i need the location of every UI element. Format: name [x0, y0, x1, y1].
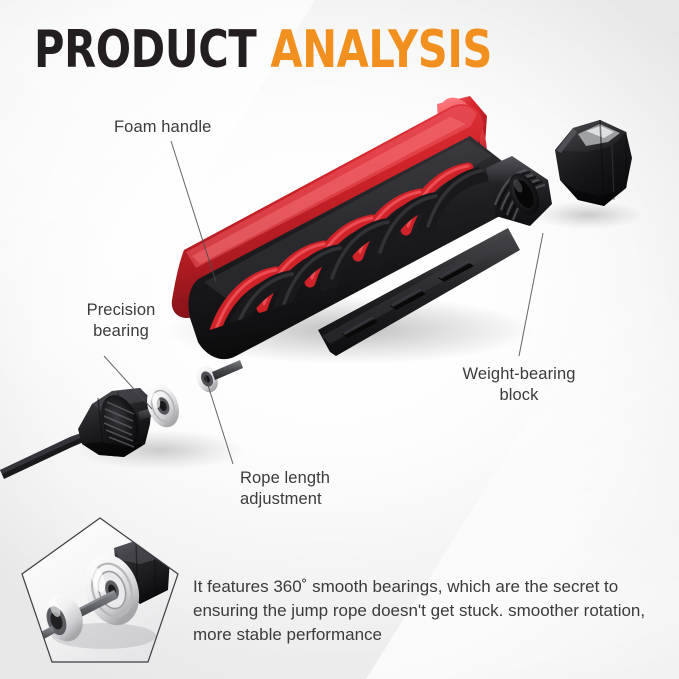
title-word-product: PRODUCT	[34, 20, 256, 80]
page-title: PRODUCT ANALYSIS	[34, 24, 492, 76]
rope-adjustment-bearing	[192, 362, 222, 396]
title-word-analysis: ANALYSIS	[270, 20, 492, 80]
pentagon-inset-svg	[18, 514, 182, 666]
inset-content	[18, 514, 182, 666]
title-space	[256, 20, 270, 80]
hex-end-cap	[555, 120, 632, 206]
callout-label-weight-bearing-block: Weight-bearing block	[447, 364, 591, 406]
callout-label-rope-length-adjustment: Rope length adjustment	[240, 468, 330, 510]
bearing-closeup-inset	[18, 514, 182, 666]
adjustment-shaft	[212, 360, 243, 380]
callout-label-foam-handle: Foam handle	[114, 117, 211, 138]
infographic-canvas: PRODUCT ANALYSIS Foam handle Precision b…	[0, 0, 679, 679]
description-text: It features 360˚ smooth bearings, which …	[193, 575, 663, 647]
steel-rope-cable	[0, 432, 86, 479]
callout-label-precision-bearing: Precision bearing	[62, 300, 180, 342]
